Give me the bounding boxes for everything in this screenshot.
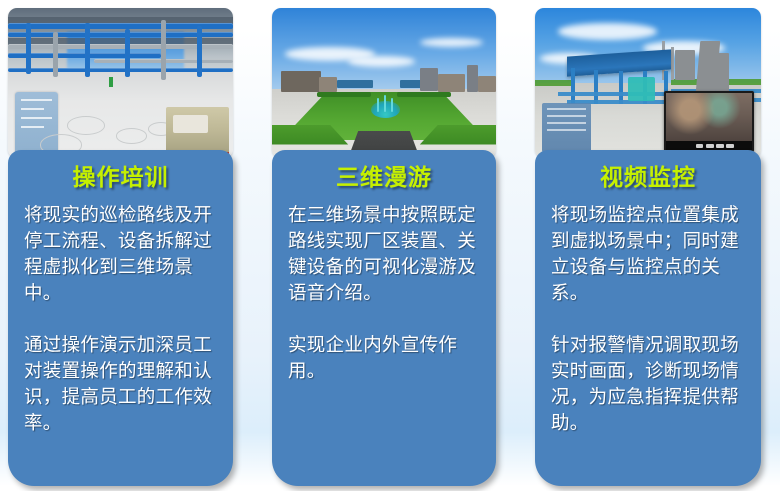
fountain-jet [377, 98, 379, 112]
building [420, 68, 438, 91]
fountain-jet [384, 95, 386, 112]
monitor-bezel-bar [666, 141, 752, 150]
card-paragraph: 在三维场景中按照既定路线实现厂区装置、关键设备的可视化漫游及语音介绍。 [288, 203, 480, 307]
card-panel: 三维漫游 在三维场景中按照既定路线实现厂区装置、关键设备的可视化漫游及语音介绍。… [272, 150, 496, 486]
building [478, 76, 496, 93]
monitor-led [696, 144, 704, 148]
board-line [21, 126, 45, 128]
hud-info-panel [542, 103, 592, 153]
card-panel: 视频监控 将现场监控点位置集成到虚拟场景中；同时建立设备与监控点的关系。 针对报… [535, 150, 761, 486]
building [319, 77, 337, 92]
slide-canvas: 操作培训 将现实的巡检路线及开停工流程、设备拆解过程虚拟化到三维场景中。 通过操… [0, 0, 780, 491]
card-body: 在三维场景中按照既定路线实现厂区装置、关键设备的可视化漫游及语音介绍。 实现企业… [286, 203, 482, 385]
hud-line [547, 115, 587, 117]
paragraph-spacer [551, 307, 745, 333]
chimney-stack [671, 47, 674, 80]
vertical-pipe [125, 29, 130, 77]
distant-unit [675, 50, 695, 80]
building [337, 80, 373, 88]
fountain-jet [391, 98, 393, 112]
card-paragraph: 实现企业内外宣传作用。 [288, 333, 480, 385]
hud-line [547, 129, 587, 131]
board-line [21, 117, 52, 119]
scene-plant-exterior [535, 8, 761, 158]
card-title: 视频监控 [549, 166, 747, 191]
card-paragraph: 通过操作演示加深员工对装置操作的理解和认识，提高员工的工作效率。 [24, 333, 217, 437]
floor-marking [67, 116, 105, 135]
card-title: 操作培训 [22, 166, 219, 191]
card-body: 将现场监控点位置集成到虚拟场景中；同时建立设备与监控点的关系。 针对报警情况调取… [549, 203, 747, 437]
hud-line [547, 122, 587, 124]
card-thumbnail-three-dimensional-roaming [272, 8, 496, 158]
card-title: 三维漫游 [286, 166, 482, 191]
vertical-pipe [161, 20, 166, 80]
tree-row [317, 92, 371, 97]
card-paragraph: 将现场监控点位置集成到虚拟场景中；同时建立设备与监控点的关系。 [551, 203, 745, 307]
board-line [21, 108, 45, 110]
cloud [558, 23, 657, 40]
camera-feed [666, 93, 752, 141]
vertical-pipe [197, 26, 202, 77]
process-unit [628, 77, 655, 101]
cloud [420, 38, 483, 47]
monitor-led [716, 144, 724, 148]
card-body: 将现实的巡检路线及开停工流程、设备拆解过程虚拟化到三维场景中。 通过操作演示加深… [22, 203, 219, 437]
monitor-led [726, 144, 734, 148]
paragraph-spacer [24, 307, 217, 333]
feature-card-operation-training[interactable]: 操作培训 将现实的巡检路线及开停工流程、设备拆解过程虚拟化到三维场景中。 通过操… [8, 8, 233, 486]
building [438, 74, 465, 92]
card-paragraph: 将现实的巡检路线及开停工流程、设备拆解过程虚拟化到三维场景中。 [24, 203, 217, 307]
monitor-led [706, 144, 714, 148]
feature-card-three-dimensional-roaming[interactable]: 三维漫游 在三维场景中按照既定路线实现厂区装置、关键设备的可视化漫游及语音介绍。… [272, 8, 496, 486]
cloud [348, 56, 415, 67]
hud-line [547, 108, 587, 110]
video-monitor-inset[interactable] [664, 91, 754, 152]
card-thumbnail-video-surveillance [535, 8, 761, 158]
floor-marking [116, 128, 147, 144]
building [281, 71, 321, 92]
feature-card-video-surveillance[interactable]: 视频监控 将现场监控点位置集成到虚拟场景中；同时建立设备与监控点的关系。 针对报… [535, 8, 761, 486]
floor-equipment [166, 107, 229, 155]
tall-tower [716, 53, 730, 92]
scene-outdoor-plaza [272, 8, 496, 158]
paragraph-spacer [288, 307, 480, 333]
grass-strip [535, 80, 571, 86]
card-panel: 操作培训 将现实的巡检路线及开停工流程、设备拆解过程虚拟化到三维场景中。 通过操… [8, 150, 233, 486]
vertical-pipe [26, 23, 31, 74]
board-line [21, 99, 52, 101]
vertical-pipe [53, 32, 58, 77]
card-paragraph: 针对报警情况调取现场实时画面，诊断现场情况，为应急指挥提供帮助。 [551, 333, 745, 437]
safety-marker [109, 77, 113, 87]
building [467, 65, 478, 92]
vertical-pipe [85, 23, 90, 77]
card-thumbnail-operation-training [8, 8, 233, 158]
tree-row [397, 92, 451, 97]
scene-plant-interior [8, 8, 233, 158]
